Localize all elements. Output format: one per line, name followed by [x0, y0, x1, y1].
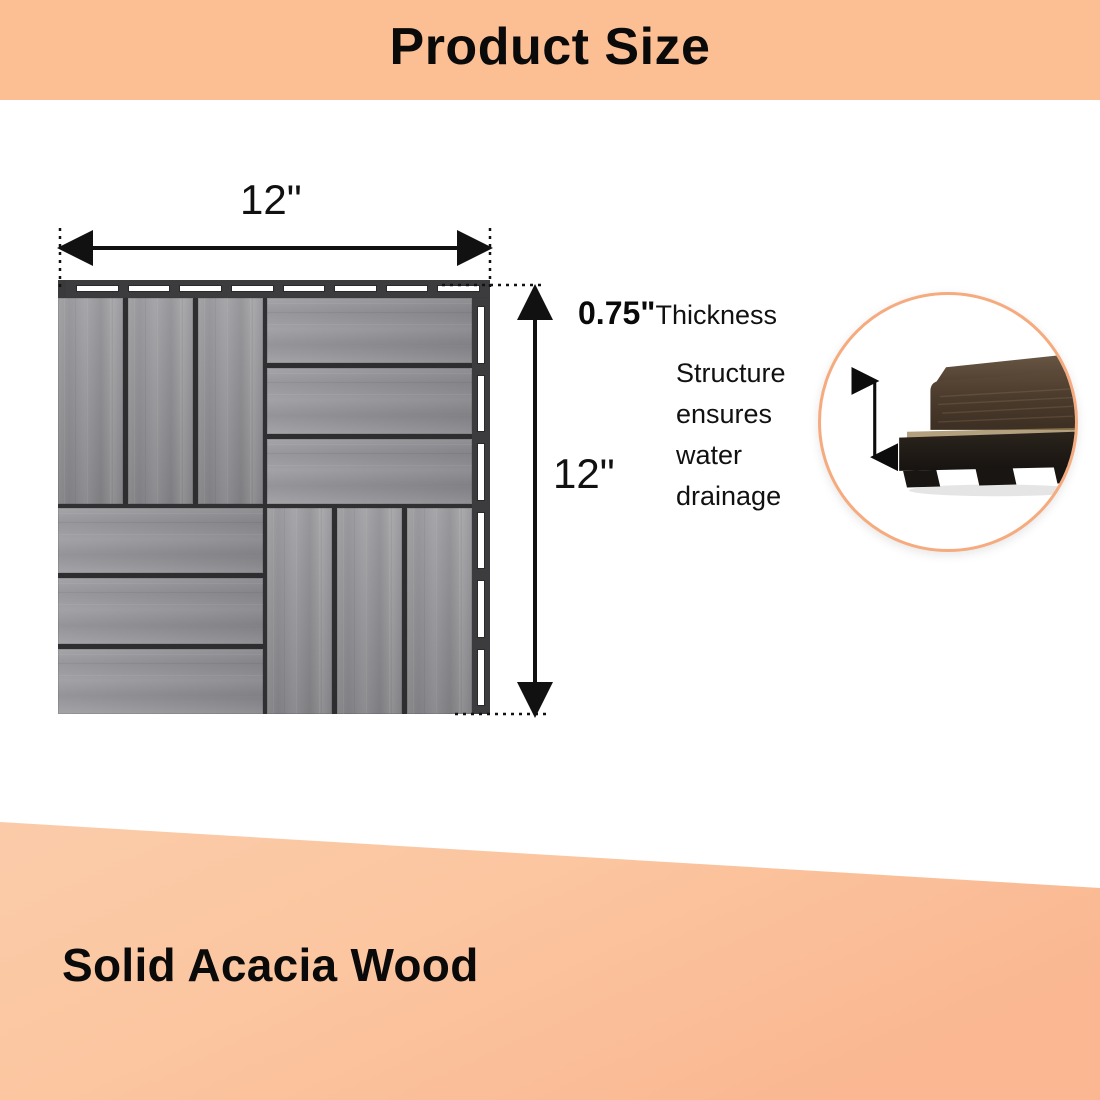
wood-slat: [58, 508, 263, 573]
tile-plastic-base: [58, 280, 490, 714]
wood-slat: [198, 298, 263, 504]
footer-title: Solid Acacia Wood: [62, 938, 479, 992]
drainage-slot: [477, 306, 485, 364]
thickness-label: Thickness: [655, 300, 777, 330]
height-label: 12": [553, 450, 615, 498]
page-title: Product Size: [0, 12, 1100, 82]
wood-slat: [267, 368, 472, 433]
drainage-slot: [231, 285, 274, 292]
tile-right-rail: [472, 298, 490, 714]
tile-quadrant-bottom-right: [267, 508, 472, 714]
wood-slat: [337, 508, 402, 714]
drainage-slot: [437, 285, 480, 292]
drainage-slot: [128, 285, 171, 292]
drainage-slot: [477, 512, 485, 570]
drainage-feature-text: Structure ensures water drainage: [676, 353, 826, 517]
diagram-area: 12" 12" 0.75"Thickness Structure ensures…: [0, 100, 1100, 810]
drainage-slot: [386, 285, 429, 292]
drainage-slot: [76, 285, 119, 292]
wood-slat: [267, 298, 472, 363]
drainage-slot: [179, 285, 222, 292]
wood-slat: [128, 298, 193, 504]
tile-slat-grid: [58, 298, 472, 714]
tile-quadrant-top-right: [267, 298, 472, 504]
tile-quadrant-bottom-left: [58, 508, 263, 714]
drainage-slot: [477, 580, 485, 638]
header-band: Product Size: [0, 0, 1100, 100]
wood-slat: [58, 649, 263, 714]
thickness-callout: 0.75"Thickness: [578, 295, 777, 332]
wood-slat: [267, 508, 332, 714]
wood-slat: [58, 298, 123, 504]
drainage-slot: [283, 285, 326, 292]
edge-profile-illustration: [821, 295, 1075, 549]
product-tile-image: [58, 280, 490, 714]
drainage-slot: [477, 375, 485, 433]
edge-profile-inset: [818, 292, 1078, 552]
thickness-value: 0.75": [578, 295, 655, 331]
infographic-canvas: Product Size: [0, 0, 1100, 1100]
tile-quadrant-top-left: [58, 298, 263, 504]
width-label: 12": [240, 176, 302, 224]
wood-slat: [58, 578, 263, 643]
wood-slat: [267, 439, 472, 504]
drainage-slot: [334, 285, 377, 292]
tile-top-rail: [66, 280, 490, 297]
drainage-slot: [477, 649, 485, 707]
drainage-slot: [477, 443, 485, 501]
wood-slat: [407, 508, 472, 714]
